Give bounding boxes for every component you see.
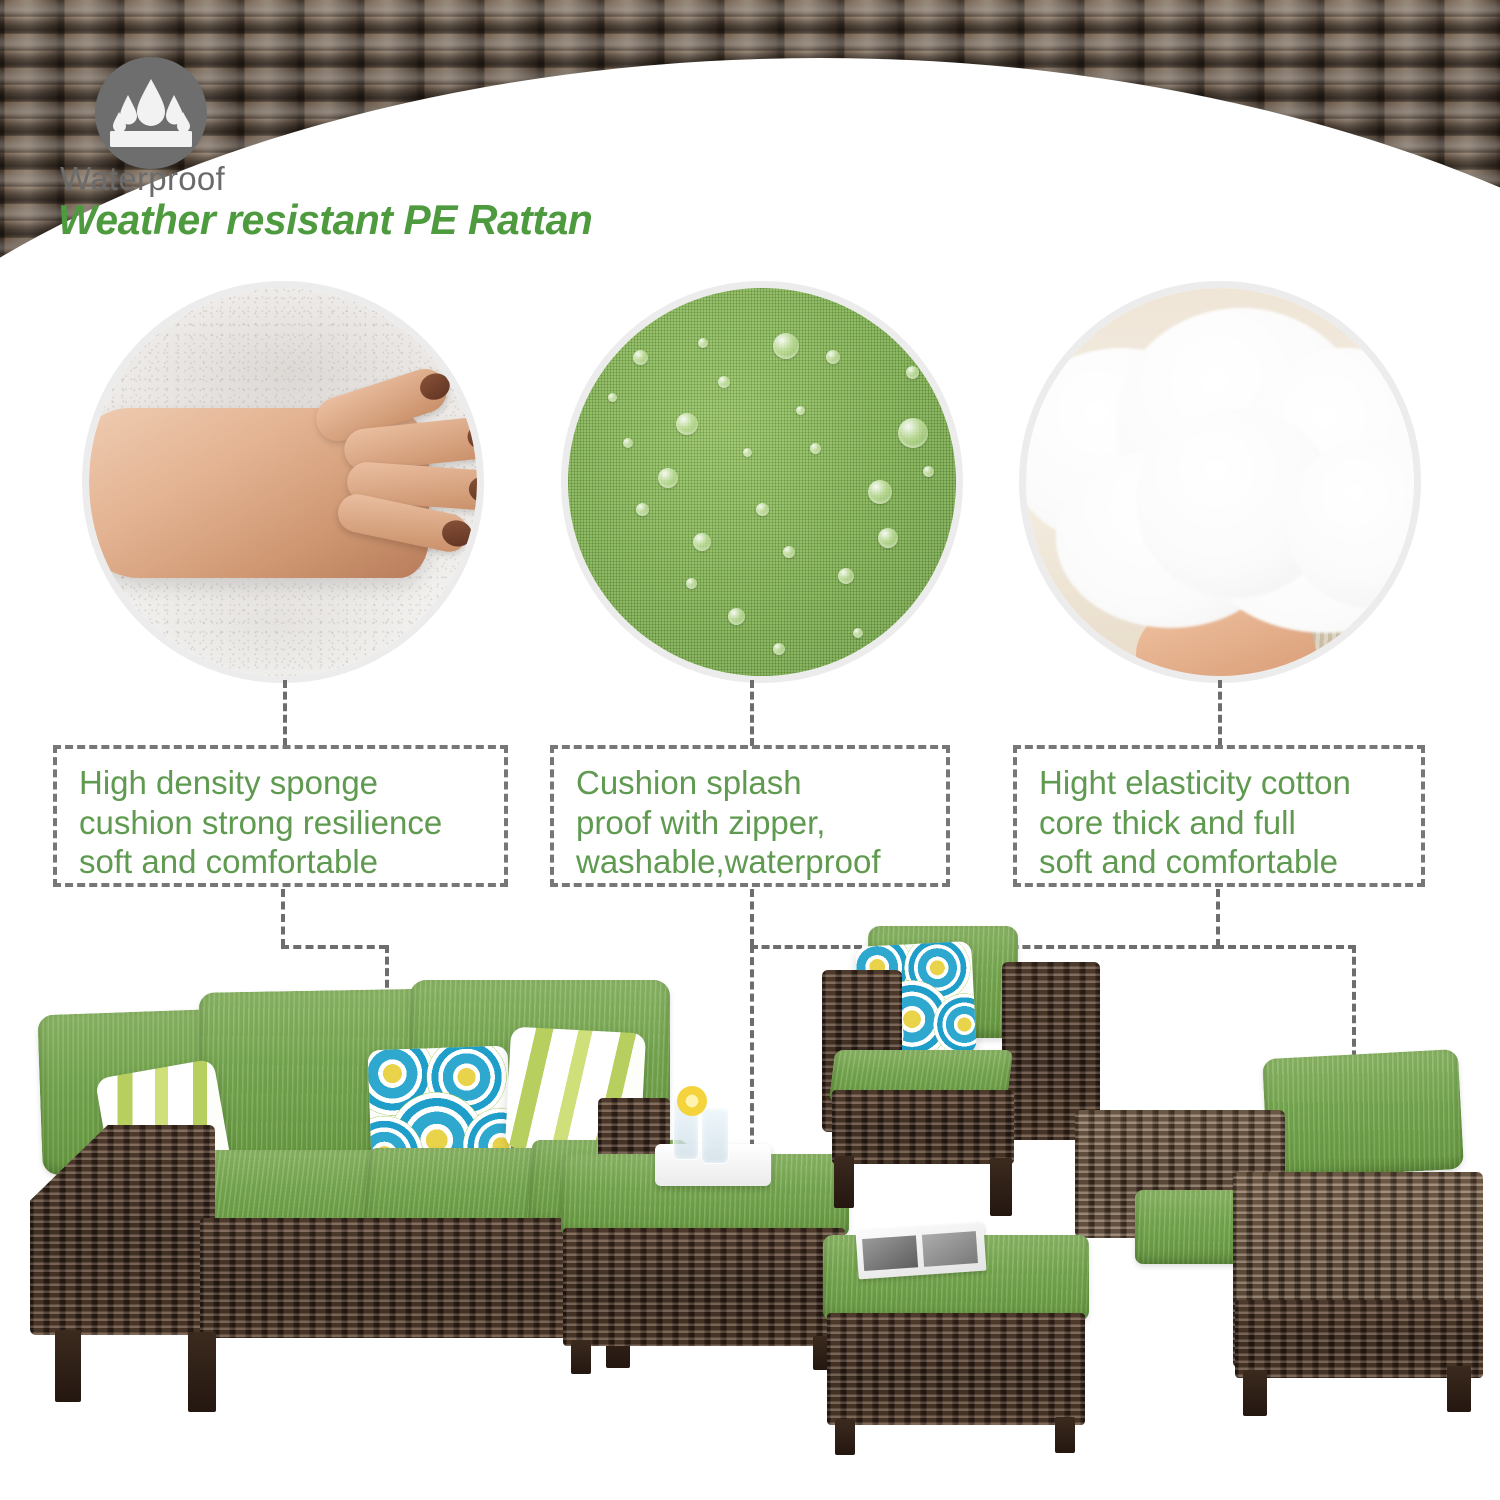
feature-photo-high-density-sponge — [82, 281, 484, 683]
waterproof-droplets-icon — [95, 57, 207, 169]
lounge-back-cushion — [1262, 1049, 1464, 1179]
ottoman-with-magazine — [815, 1225, 1105, 1455]
lounge-chair — [1075, 1060, 1495, 1410]
callout-line: soft and comfortable — [79, 842, 488, 882]
waterproof-badge-label: Waterproof — [60, 160, 225, 198]
connector-circle1-to-box1 — [283, 680, 287, 746]
cotton-photo — [1026, 288, 1414, 676]
armchair-leg — [990, 1158, 1012, 1216]
magazine — [855, 1223, 986, 1280]
callout-cushion-splash-proof: Cushion splash proof with zipper, washab… — [550, 745, 950, 887]
callout-high-density-sponge: High density sponge cushion strong resil… — [53, 745, 508, 887]
armchair-base — [832, 1090, 1014, 1164]
lemon-slice — [677, 1086, 707, 1116]
ottoman-leg — [571, 1340, 591, 1374]
callout-line: proof with zipper, — [576, 803, 930, 843]
connector-circle3-to-box3 — [1218, 680, 1222, 746]
feature-photo-cushion-splash-proof — [561, 281, 963, 683]
ottoman-leg — [1055, 1417, 1075, 1453]
connector-circle2-to-box2 — [750, 680, 754, 746]
callout-line: Hight elasticity cotton — [1039, 763, 1405, 803]
lounge-leg — [1447, 1366, 1471, 1412]
ottoman-base — [827, 1313, 1085, 1425]
lounge-leg — [1243, 1370, 1267, 1416]
green-fabric — [568, 288, 956, 676]
callout-line: soft and comfortable — [1039, 842, 1405, 882]
sofa-leg — [188, 1332, 216, 1412]
page-headline: Weather resistant PE Rattan — [58, 196, 592, 244]
waterbead-fabric-photo — [568, 288, 956, 676]
ottoman-base — [563, 1228, 845, 1346]
callout-line: Cushion splash — [576, 763, 930, 803]
infographic-page: Waterproof Weather resistant PE Rattan — [0, 0, 1500, 1500]
callout-line: cushion strong resilience — [79, 803, 488, 843]
lounge-base — [1235, 1300, 1483, 1378]
sponge-photo — [89, 288, 477, 676]
callout-high-elasticity-cotton: Hight elasticity cotton core thick and f… — [1013, 745, 1425, 887]
sofa-leg — [55, 1330, 81, 1402]
feature-photo-high-elasticity-cotton — [1019, 281, 1421, 683]
callout-line: High density sponge — [79, 763, 488, 803]
drinking-glass — [701, 1108, 729, 1164]
ottoman-leg — [835, 1419, 855, 1455]
product-scene — [0, 900, 1500, 1500]
droplet-glyphs — [95, 57, 207, 169]
armchair-leg — [834, 1156, 854, 1208]
callout-line: core thick and full — [1039, 803, 1405, 843]
callout-line: washable,waterproof — [576, 842, 930, 882]
